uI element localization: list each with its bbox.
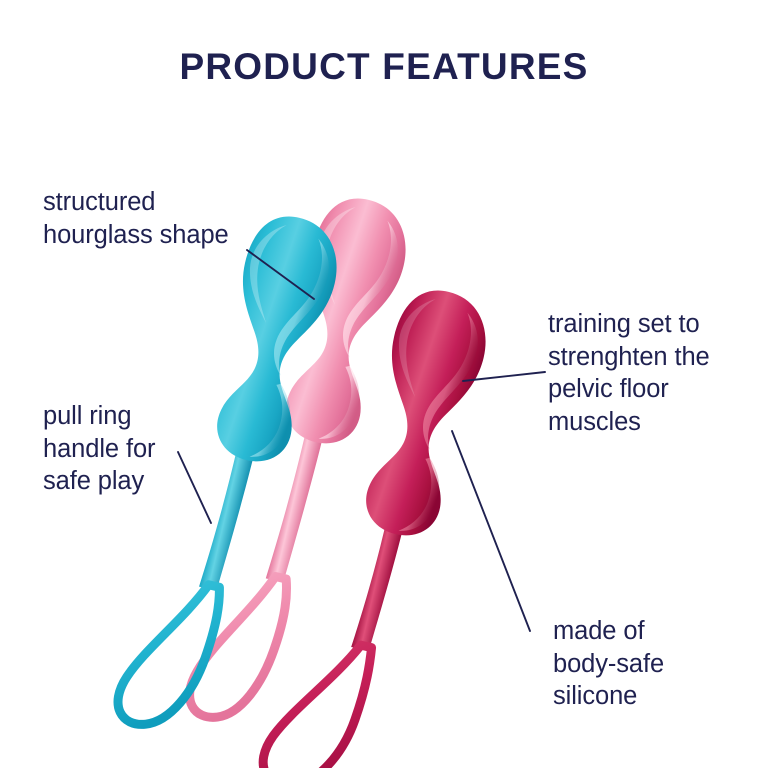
berry-stem [351,518,404,652]
annotation-line: muscles [548,406,710,439]
annotation-line: strenghten the [548,341,710,374]
annotation-line: handle for [43,433,155,466]
annotation-training-set-pelvic-floor: training set to strenghten the pelvic fl… [548,308,710,439]
annotation-structured-hourglass-shape: structured hourglass shape [43,186,229,251]
annotation-line: body-safe [553,648,664,681]
infographic-canvas: PRODUCT FEATURES structured hourglass sh… [0,0,768,768]
teal-stem [199,444,255,592]
annotation-body-safe-silicone: made of body-safe silicone [553,615,664,713]
annotation-line: hourglass shape [43,219,229,252]
annotation-line: training set to [548,308,710,341]
annotation-line: silicone [553,680,664,713]
annotation-line: structured [43,186,229,219]
page-title: PRODUCT FEATURES [0,48,768,85]
annotation-line: made of [553,615,664,648]
annotation-line: pull ring [43,400,155,433]
teal-pull-ring [113,571,223,737]
annotation-pull-ring-handle: pull ring handle for safe play [43,400,155,498]
berry-body [351,282,496,544]
annotation-line: safe play [43,465,155,498]
annotation-line: pelvic floor [548,373,710,406]
